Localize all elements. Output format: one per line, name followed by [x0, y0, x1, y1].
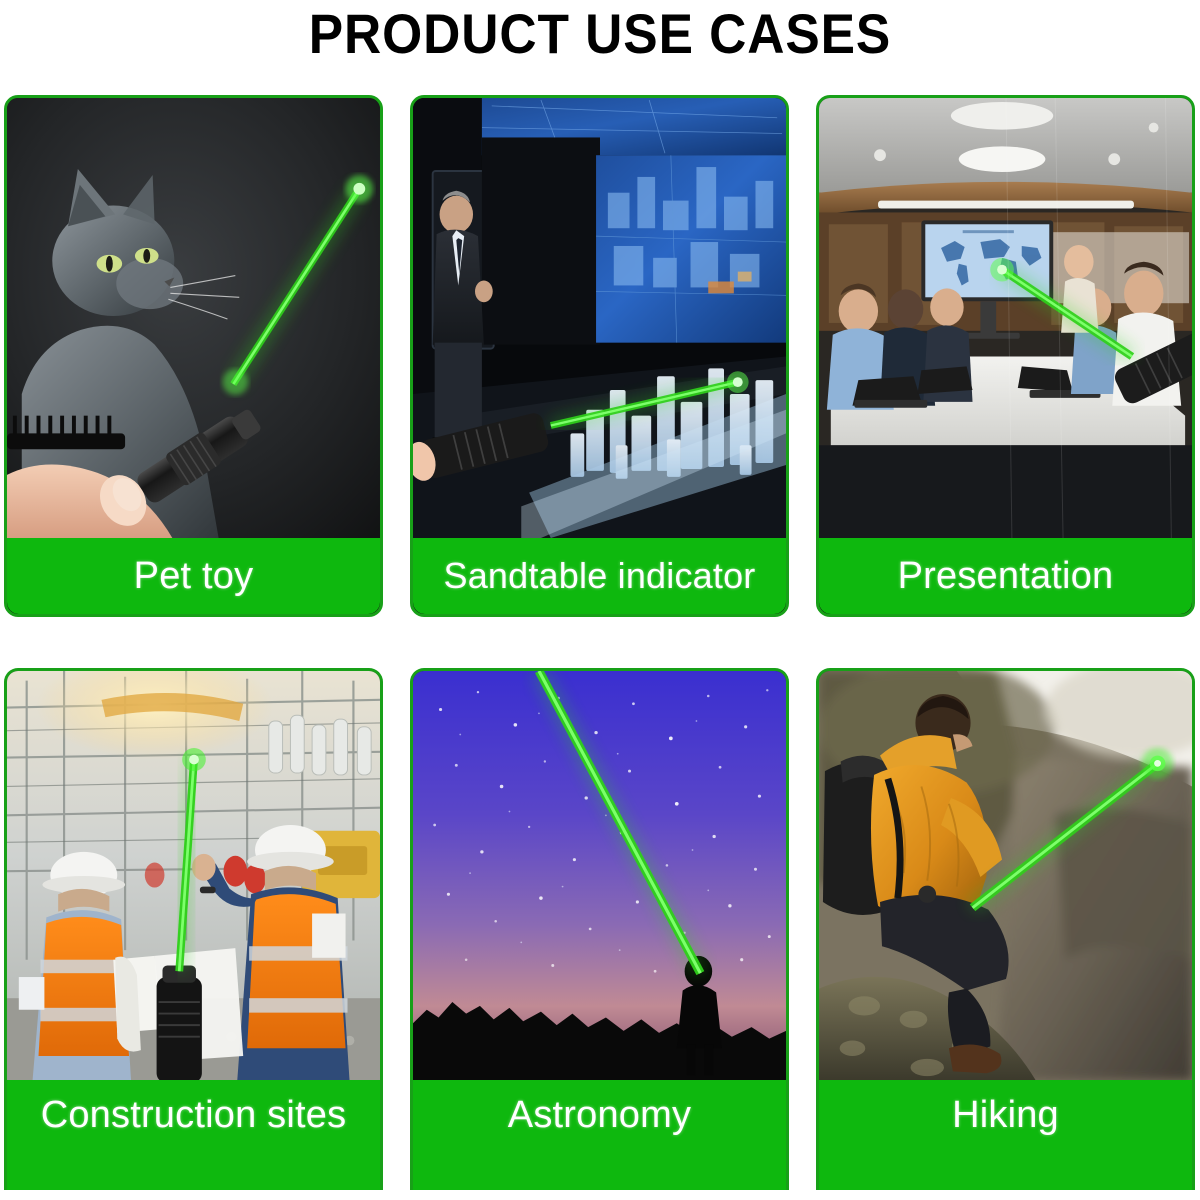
- use-case-grid: Pet toy: [4, 95, 1196, 1190]
- card-label-sandtable-indicator: Sandtable indicator: [413, 538, 786, 614]
- use-case-card-pet-toy[interactable]: Pet toy: [4, 95, 383, 617]
- pet-toy-photo: [7, 98, 380, 538]
- card-label-hiking: Hiking: [819, 1080, 1192, 1190]
- sandtable-photo: [413, 98, 786, 538]
- card-label-presentation: Presentation: [819, 538, 1192, 614]
- use-case-card-sandtable-indicator[interactable]: Sandtable indicator: [410, 95, 789, 617]
- use-case-card-astronomy[interactable]: Astronomy: [410, 668, 789, 1190]
- card-label-astronomy: Astronomy: [413, 1080, 786, 1190]
- hiking-photo: [819, 671, 1192, 1080]
- use-case-card-presentation[interactable]: Presentation: [816, 95, 1195, 617]
- use-case-card-hiking[interactable]: Hiking: [816, 668, 1195, 1190]
- astronomy-photo: [413, 671, 786, 1080]
- cat-laser-illustration: [7, 98, 380, 538]
- page-title: PRODUCT USE CASES: [48, 0, 1152, 62]
- use-case-card-construction-sites[interactable]: Construction sites: [4, 668, 383, 1190]
- boardroom-illustration: [819, 98, 1192, 538]
- card-label-pet-toy: Pet toy: [7, 538, 380, 614]
- night-sky-illustration: [413, 671, 786, 1080]
- presentation-photo: [819, 98, 1192, 538]
- sandtable-illustration: [413, 98, 786, 538]
- hiker-illustration: [819, 671, 1192, 1080]
- card-label-construction-sites: Construction sites: [7, 1080, 380, 1190]
- construction-photo: [7, 671, 380, 1080]
- construction-illustration: [7, 671, 380, 1080]
